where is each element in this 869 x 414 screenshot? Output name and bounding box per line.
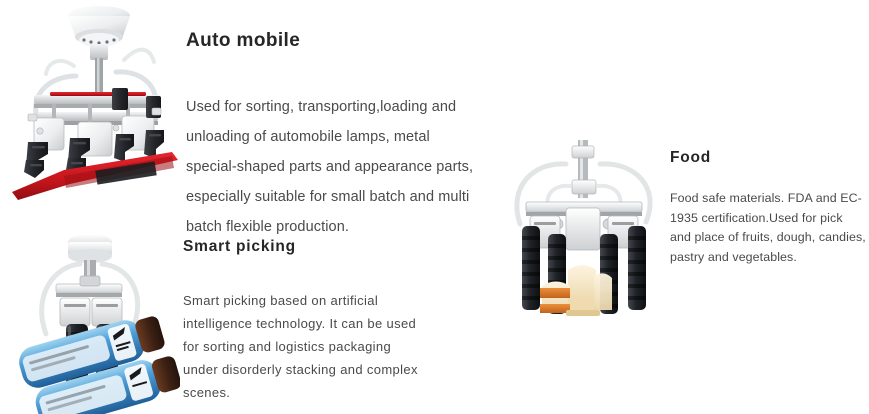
- food-gripper-image: [496, 130, 672, 330]
- smart-picking-heading: Smart picking: [183, 238, 296, 256]
- food-description: Food safe materials. FDA and EC-1935 cer…: [670, 189, 867, 267]
- smart-picking-description: Smart picking based on artificial intell…: [183, 289, 418, 404]
- page-root: Auto mobile Used for sorting, transporti…: [0, 0, 869, 414]
- food-heading: Food: [670, 149, 711, 167]
- smart-picking-gripper-image: [12, 222, 180, 414]
- automobile-gripper-image: [4, 0, 184, 208]
- automobile-heading: Auto mobile: [186, 30, 300, 52]
- automobile-description: Used for sorting, transporting,loading a…: [186, 92, 478, 242]
